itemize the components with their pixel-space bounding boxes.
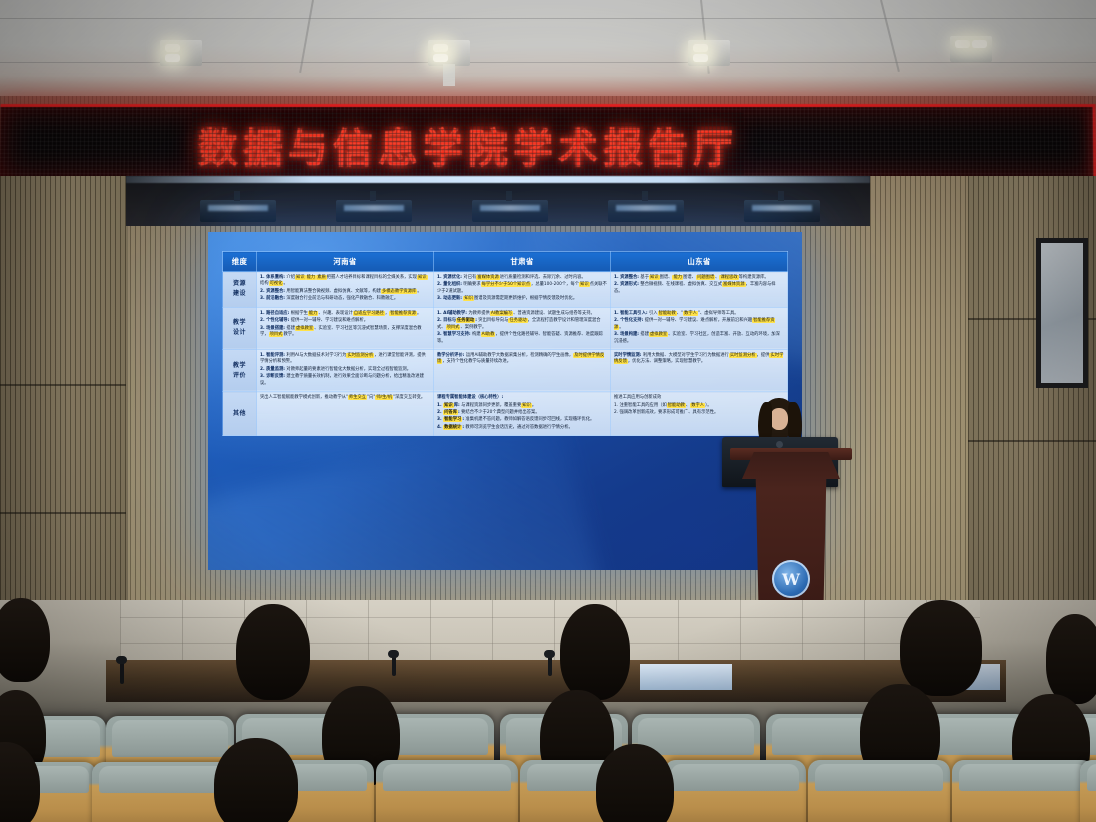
stage-light (472, 200, 548, 222)
table-row: 其他突出人工智能赋能教学模式创新，推动教学从"师生交互"向"师/生/机"深度交互… (223, 392, 788, 436)
cell-shandong: 1. 资源整合: 基于知识图谱、能力图谱、问题图谱、课程思政等构建资源库。2. … (611, 272, 788, 308)
auditorium-seat (808, 760, 950, 822)
led-banner-board: 数据与信息学院学术报告厅 (0, 104, 1096, 178)
audience-member-head (214, 738, 298, 822)
microphone-head-icon (388, 650, 399, 658)
cell-shandong: 1. 智能工具引入: 引入智能助教、"数字人"、虚拟导师等工具。2. 个性化支持… (611, 307, 788, 349)
header-shandong: 山东省 (611, 252, 788, 272)
cell-henan: 突出人工智能赋能教学模式创新，推动教学从"师生交互"向"师/生/机"深度交互转变… (257, 392, 434, 436)
ceiling-spotlight (428, 40, 470, 66)
stage-light (744, 200, 820, 222)
table-body: 资源建设1. 体系重构: 介绍知识能力素质把握人才培养目标和课程目标的全媒关系，… (223, 272, 788, 436)
audience-member-head (0, 598, 50, 682)
speaker-face (770, 408, 788, 430)
cell-henan: 1. 路径自适应: 根据学生能力、兴趣、表现设计自适应学习路径，智能推荐资源。2… (257, 307, 434, 349)
table-row: 教学设计1. 路径自适应: 根据学生能力、兴趣、表现设计自适应学习路径，智能推荐… (223, 307, 788, 349)
cell-gansu: 1. AI辅助教学: 为教师提供AI教案编写、普通资源建设、试题生成与组卷等支持… (434, 307, 611, 349)
auditorium-seat (952, 760, 1094, 822)
led-edge (1093, 107, 1096, 178)
auditorium-seat (664, 760, 806, 822)
table-row: 教学评价1. 智能评测: 利用AI与大数据技术对学习行为实时监测分析，进行课堂智… (223, 349, 788, 391)
table-row: 资源建设1. 体系重构: 介绍知识能力素质把握人才培养目标和课程目标的全媒关系，… (223, 272, 788, 308)
row-dimension-label: 资源建设 (223, 272, 257, 308)
stage-light (200, 200, 276, 222)
microphone-head-icon (544, 650, 555, 658)
row-dimension-label: 其他 (223, 392, 257, 436)
audience-member-head (236, 604, 310, 700)
header-dimension: 维度 (223, 252, 257, 272)
led-banner-text: 数据与信息学院学术报告厅 (198, 116, 738, 174)
ceiling-spotlight (950, 36, 992, 62)
audience-member-head (596, 744, 674, 822)
auditorium-seat (376, 760, 518, 822)
header-gansu: 甘肃省 (434, 252, 611, 272)
desk-monitor (640, 664, 732, 690)
recess-light-strip (126, 176, 870, 183)
laptop-camera-icon (776, 441, 783, 448)
auditorium-seat (1080, 760, 1096, 822)
row-dimension-label: 教学设计 (223, 307, 257, 349)
wall-seam (968, 440, 1096, 442)
seat-cushion (383, 764, 511, 791)
seat-cushion (1087, 764, 1096, 791)
cell-gansu: 课程专属智能体建设（核心特性）:1. 知识库: 与课程资源同步更新，覆盖重要知识… (434, 392, 611, 436)
cell-henan: 1. 智能评测: 利用AI与大数据技术对学习行为实时监测分析，进行课堂智能评测，… (257, 349, 434, 391)
seat-cushion (112, 720, 227, 757)
cell-henan: 1. 体系重构: 介绍知识能力素质把握人才培养目标和课程目标的全媒关系，实现知识… (257, 272, 434, 308)
row-dimension-label: 教学评价 (223, 349, 257, 391)
side-window (1036, 238, 1088, 388)
microphone-head-icon (116, 656, 127, 664)
table-header-row: 维度 河南省 甘肃省 山东省 (223, 252, 788, 272)
seat-cushion (99, 766, 227, 793)
stage-light (608, 200, 684, 222)
stage-light (336, 200, 412, 222)
seat-cushion (671, 764, 799, 791)
seat-cushion (959, 764, 1087, 791)
ceiling-seam (0, 18, 1096, 19)
comparison-table: 维度 河南省 甘肃省 山东省 资源建设1. 体系重构: 介绍知识能力素质把握人才… (222, 251, 788, 436)
seat-cushion (815, 764, 943, 791)
audience-member-head (560, 604, 630, 700)
cell-gansu: 教学分析评价: 运用AI辅助教学大数据采集分析，检测精确的学生画像，及时提供学情… (434, 349, 611, 391)
ceiling-spotlight (160, 40, 202, 66)
header-henan: 河南省 (257, 252, 434, 272)
side-wall-left (0, 176, 128, 666)
audience-member-head (1046, 614, 1096, 704)
wall-seam (0, 512, 126, 514)
wall-seam (0, 384, 126, 386)
university-emblem-icon: W (772, 560, 810, 598)
audience-member-head (900, 600, 982, 696)
cell-gansu: 1. 资源优化: 对已有富媒体资源进行质量检测和评选、去除冗余、过时内容。2. … (434, 272, 611, 308)
lecture-hall-scene: 数据与信息学院学术报告厅 维度 河南省 甘肃省 山东省 资源建设1. 体系重构:… (0, 0, 1096, 822)
cell-shandong: 实时学情监测: 利用大数据、大模型对学生学习行为数据进行实时监测分析，提供实时学… (611, 349, 788, 391)
projection-screen: 维度 河南省 甘肃省 山东省 资源建设1. 体系重构: 介绍知识能力素质把握人才… (208, 232, 802, 570)
ceiling-spotlight (688, 40, 730, 66)
auditorium-seat (92, 762, 234, 822)
